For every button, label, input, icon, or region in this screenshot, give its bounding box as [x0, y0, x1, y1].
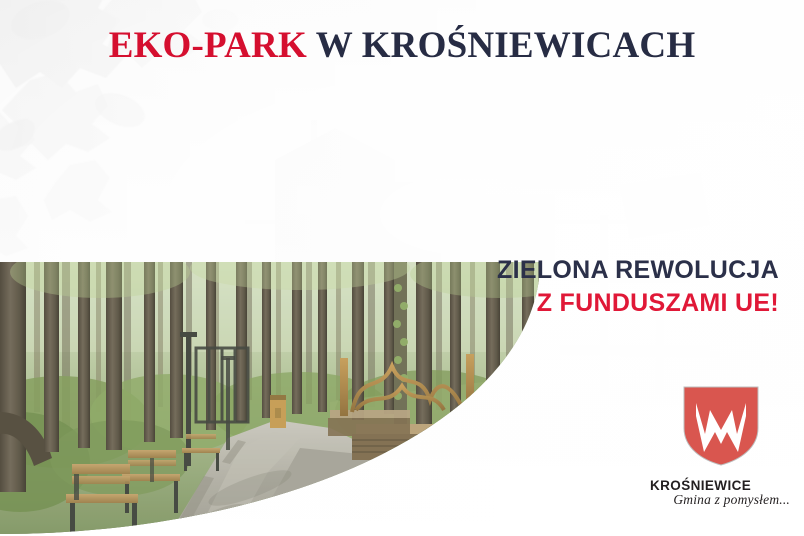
- coat-of-arms-shield-icon: [682, 386, 760, 466]
- subtitle: ZIELONA REWOLUCJA Z FUNDUSZAMI UE!: [497, 254, 779, 320]
- municipality-tagline: Gmina z pomysłem...: [648, 492, 794, 508]
- subtitle-line-1: ZIELONA REWOLUCJA: [497, 254, 779, 287]
- page-title-main: W KROŚNIEWICACH: [307, 25, 695, 66]
- page-title-accent: EKO-PARK: [109, 25, 307, 66]
- poster-canvas: EKO-PARK W KROŚNIEWICACH: [0, 0, 804, 536]
- page-title: EKO-PARK W KROŚNIEWICACH: [0, 27, 804, 66]
- subtitle-line-2: Z FUNDUSZAMI UE!: [497, 287, 779, 320]
- municipality-name: KROŚNIEWICE: [648, 478, 794, 493]
- municipality-logo: KROŚNIEWICE Gmina z pomysłem...: [648, 386, 794, 508]
